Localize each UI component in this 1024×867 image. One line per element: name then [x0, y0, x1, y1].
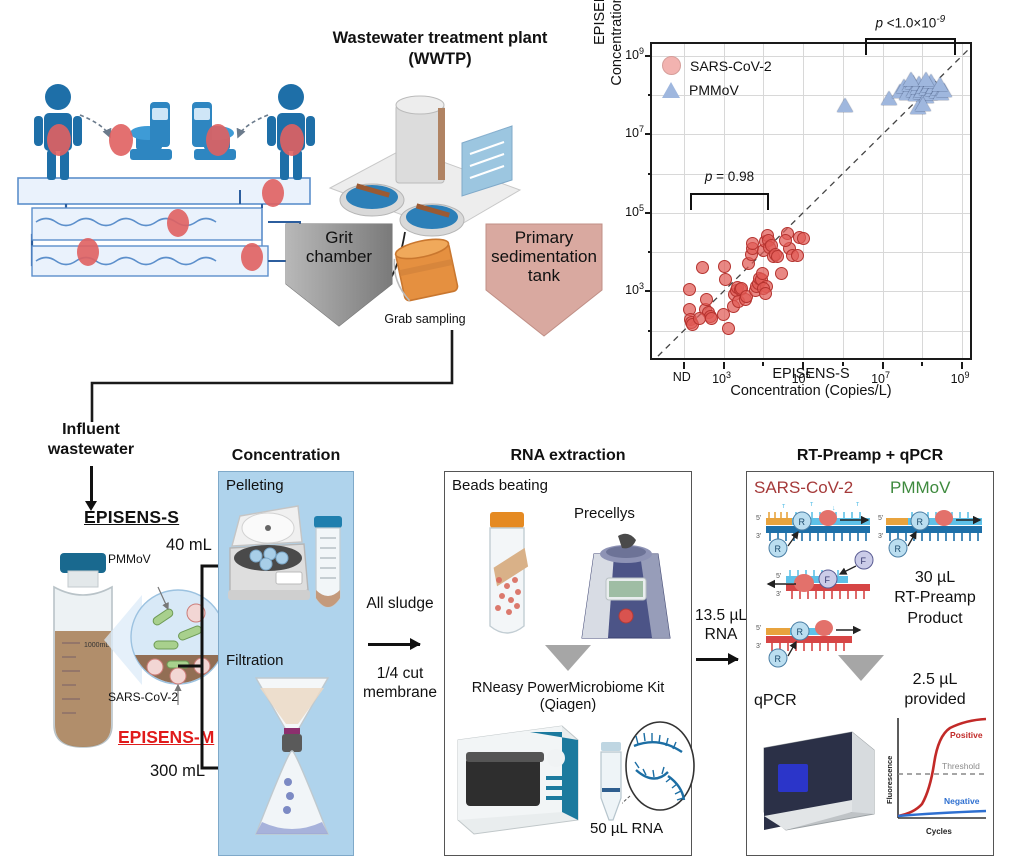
scatter-point-pmmov: [932, 77, 948, 91]
svg-text:5': 5': [878, 515, 883, 522]
svg-text:↓: ↓: [832, 505, 836, 512]
y-tick-label: 109: [604, 46, 644, 62]
grit-chamber-line1: Grit: [288, 228, 390, 247]
volume-m-label: 300 mL: [150, 762, 205, 781]
preamp-line2: RT-Preamp: [880, 588, 990, 608]
toilet-icon: [130, 102, 172, 160]
concentration-panel-title: Concentration: [218, 447, 354, 465]
p-value-bracket: [690, 193, 770, 210]
p-value-bracket: [865, 38, 956, 55]
extraction-instrument-icon: [452, 716, 586, 838]
legend-triangle-icon: [662, 82, 680, 98]
x-tick-label: 107: [859, 370, 903, 386]
primary-tank-line1: Primary: [488, 228, 600, 247]
svg-text:R: R: [895, 544, 902, 554]
transfer2-rna: RNA: [692, 625, 750, 644]
svg-text:ᴛ: ᴛ: [782, 503, 786, 510]
primary-tank-line3: tank: [488, 266, 600, 285]
provided-line1: 2.5 µL: [880, 670, 990, 690]
scatter-point-sars: [771, 250, 784, 263]
extraction-kit-label: RNeasy PowerMicrobiome Kit (Qiagen): [448, 680, 688, 715]
rna-strands-icon: [622, 718, 696, 814]
qpcr-machine-icon: [756, 720, 880, 840]
beads-tube-icon: [476, 508, 540, 648]
filtration-funnel-icon: [238, 672, 342, 848]
scatter-point-sars: [719, 273, 732, 286]
scatter-plot: EPISENS-M Concentration (Copies/L) EPISE…: [596, 4, 1024, 402]
rna-extraction-panel-title: RNA extraction: [444, 447, 692, 465]
precellys-device-icon: [578, 528, 674, 644]
transfer2-amount-label: 13.5 µL RNA: [692, 606, 750, 645]
scatter-point-pmmov: [837, 98, 853, 112]
provided-label: 2.5 µL provided: [880, 670, 990, 711]
rna-flow-triangle-icon: [545, 645, 591, 671]
scatter-point-sars: [791, 249, 804, 262]
svg-text:ᴛ: ᴛ: [810, 501, 814, 508]
svg-text:Cycles: Cycles: [926, 827, 952, 836]
svg-text:R: R: [775, 544, 782, 554]
transfer1-arrow: [368, 643, 420, 646]
influent-down-arrow: [90, 466, 93, 502]
legend-item-sars: SARS-CoV-2: [662, 56, 772, 75]
wwtp-plant-illustration: [330, 96, 520, 236]
svg-text:R: R: [799, 517, 806, 527]
y-tick-minor: [648, 173, 652, 175]
provided-line2: provided: [880, 690, 990, 710]
grab-sampling-label: Grab sampling: [365, 312, 485, 326]
svg-text:ᴛ: ᴛ: [856, 501, 860, 508]
volume-s-label: 40 mL: [166, 536, 212, 555]
preamp-line3: Product: [880, 609, 990, 629]
filtration-label: Filtration: [226, 652, 284, 669]
scatter-point-sars: [775, 267, 788, 280]
svg-text:5': 5': [756, 515, 761, 522]
preamp-product-label: 30 µL RT-Preamp Product: [880, 568, 990, 629]
grit-chamber-label: Grit chamber: [288, 228, 390, 314]
qpcr-flow-triangle-icon: [838, 655, 884, 681]
influent-line2: wastewater: [16, 440, 166, 460]
svg-text:F: F: [861, 556, 867, 566]
y-tick: [645, 290, 652, 292]
influent-wastewater-label: Influent wastewater: [16, 420, 166, 460]
grit-chamber-line2: chamber: [288, 247, 390, 266]
svg-text:5': 5': [776, 573, 781, 580]
precellys-label: Precellys: [574, 505, 635, 522]
legend-circle-icon: [662, 56, 681, 75]
svg-text:5': 5': [756, 625, 761, 632]
cut-membrane-line1: 1/4 cut: [356, 664, 444, 683]
svg-text:Fluorescence: Fluorescence: [885, 756, 894, 804]
svg-text:R: R: [917, 517, 924, 527]
legend-label: PMMoV: [689, 82, 739, 98]
svg-text:3': 3': [878, 533, 883, 540]
centrifuge-icon: [224, 498, 350, 640]
svg-text:3': 3': [756, 533, 761, 540]
amplification-curve-chart: Positive Threshold Negative Fluorescence…: [884, 712, 990, 840]
x-tick-label: 105: [779, 370, 823, 386]
primary-tank-label: Primary sedimentation tank: [488, 228, 600, 324]
scatter-point-sars: [759, 287, 772, 300]
qpcr-panel-title: RT-Preamp + qPCR: [746, 447, 994, 465]
transfer2-amount: 13.5 µL: [692, 606, 750, 625]
qpcr-sars-label: SARS-CoV-2: [754, 478, 853, 498]
y-tick: [645, 212, 652, 214]
y-tick-label: 103: [604, 281, 644, 297]
x-tick-label: 109: [938, 370, 982, 386]
svg-text:3': 3': [756, 643, 761, 650]
y-axis-title-line1: EPISENS-M: [592, 0, 608, 45]
transfer2-arrow: [696, 658, 738, 661]
x-tick-label: 103: [700, 370, 744, 386]
svg-text:Threshold: Threshold: [942, 761, 980, 771]
y-tick-label: 107: [604, 124, 644, 140]
y-tick-minor: [648, 251, 652, 253]
scatter-point-sars: [722, 322, 735, 335]
svg-text:F: F: [825, 575, 831, 585]
scatter-point-pmmov: [915, 97, 931, 111]
qpcr-step-label: qPCR: [754, 692, 797, 710]
pelleting-label: Pelleting: [226, 477, 284, 494]
cut-membrane-line2: membrane: [356, 683, 444, 702]
kit-line2: (Qiagen): [448, 697, 688, 714]
svg-text:Positive: Positive: [950, 730, 983, 740]
p-value-label: p <1.0×10-9: [840, 14, 980, 31]
split-arrow: [176, 556, 224, 786]
beads-beating-label: Beads beating: [452, 477, 548, 494]
influent-line1: Influent: [16, 420, 166, 440]
svg-text:3': 3': [776, 591, 781, 598]
all-sludge-label: All sludge: [356, 594, 444, 613]
sars-callout-label: SARS-CoV-2: [108, 690, 178, 704]
svg-text:R: R: [775, 654, 782, 664]
scatter-point-pmmov: [903, 72, 919, 86]
y-tick-label: 105: [604, 203, 644, 219]
y-tick: [645, 133, 652, 135]
scatter-point-sars: [797, 232, 810, 245]
svg-text:Negative: Negative: [944, 796, 980, 806]
svg-text:R: R: [797, 627, 804, 637]
legend-item-pmmov: PMMoV: [662, 82, 739, 98]
rna-output-label: 50 µL RNA: [590, 820, 663, 837]
primary-tank-line2: sedimentation: [488, 247, 600, 266]
x-tick-label: ND: [660, 370, 704, 384]
cut-membrane-label: 1/4 cut membrane: [356, 664, 444, 703]
preamp-line1: 30 µL: [880, 568, 990, 588]
grab-sampling-bucket-icon: [386, 232, 472, 312]
y-tick-minor: [648, 330, 652, 332]
y-axis-title-line2: Concentration (Copies/L): [609, 0, 625, 86]
y-tick: [645, 55, 652, 57]
svg-text:1000mL: 1000mL: [84, 642, 109, 649]
qpcr-pmmov-label: PMMoV: [890, 478, 950, 498]
y-tick-minor: [648, 94, 652, 96]
scatter-point-sars: [779, 234, 792, 247]
episens-s-label: EPISENS-S: [84, 507, 179, 528]
pmmov-callout-label: PMMoV: [108, 552, 151, 566]
p-value-label: p = 0.98: [660, 169, 800, 184]
legend-label: SARS-CoV-2: [690, 58, 772, 74]
kit-line1: RNeasy PowerMicrobiome Kit: [448, 680, 688, 697]
